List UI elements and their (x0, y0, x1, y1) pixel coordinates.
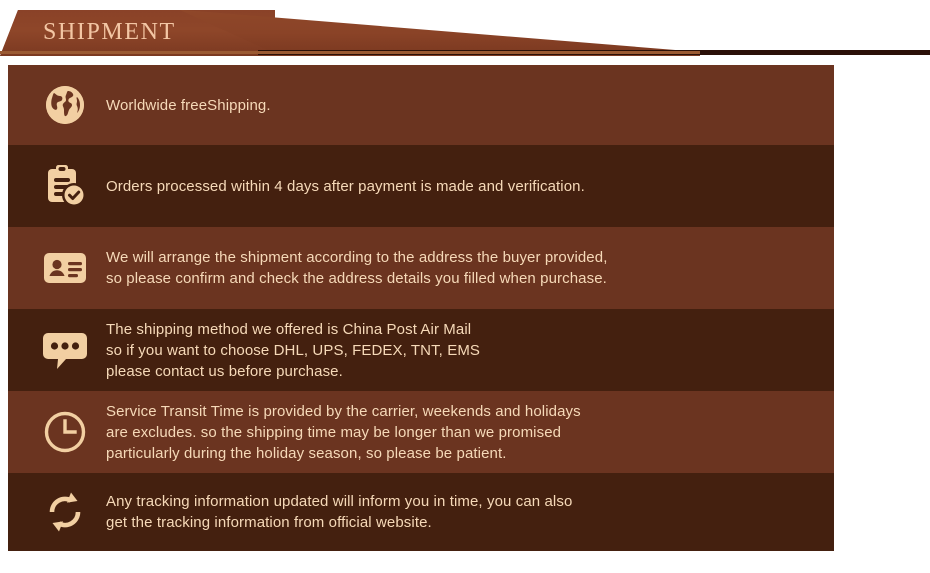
info-row-address-confirmation: We will arrange the shipment according t… (8, 227, 834, 309)
info-line: The shipping method we offered is China … (106, 319, 480, 340)
clipboard-check-icon (28, 163, 102, 209)
info-row-shipping-method: The shipping method we offered is China … (8, 309, 834, 391)
speech-bubble-icon (28, 329, 102, 371)
clock-icon (28, 410, 102, 454)
info-row-text: Any tracking information updated will in… (102, 491, 572, 533)
info-line: get the tracking information from offici… (106, 512, 572, 533)
shipment-banner: SHIPMENT Worldwide freeShipping. (0, 0, 930, 573)
shipment-header: SHIPMENT (0, 0, 930, 62)
refresh-arrows-icon (28, 490, 102, 534)
info-row-text: Worldwide freeShipping. (102, 95, 271, 116)
info-row-transit-time: Service Transit Time is provided by the … (8, 391, 834, 473)
info-line: are excludes. so the shipping time may b… (106, 422, 581, 443)
info-row-text: The shipping method we offered is China … (102, 319, 480, 382)
info-line: particularly during the holiday season, … (106, 443, 581, 464)
info-line: Any tracking information updated will in… (106, 491, 572, 512)
page-title: SHIPMENT (43, 19, 176, 46)
info-row-tracking-information: Any tracking information updated will in… (8, 473, 834, 551)
info-line: so please confirm and check the address … (106, 268, 607, 289)
header-rule-light (0, 51, 700, 54)
id-card-icon (28, 250, 102, 286)
info-row-text: We will arrange the shipment according t… (102, 247, 607, 289)
info-line: Worldwide freeShipping. (106, 95, 271, 116)
info-line: We will arrange the shipment according t… (106, 247, 607, 268)
shipment-info-panel: Worldwide freeShipping. Orders (8, 65, 834, 551)
info-row-text: Orders processed within 4 days after pay… (102, 176, 585, 197)
globe-icon (28, 84, 102, 126)
info-row-text: Service Transit Time is provided by the … (102, 401, 581, 464)
info-line: Service Transit Time is provided by the … (106, 401, 581, 422)
info-line: Orders processed within 4 days after pay… (106, 176, 585, 197)
info-line: so if you want to choose DHL, UPS, FEDEX… (106, 340, 480, 361)
info-line: please contact us before purchase. (106, 361, 480, 382)
info-row-order-processing: Orders processed within 4 days after pay… (8, 145, 834, 227)
info-row-worldwide-shipping: Worldwide freeShipping. (8, 65, 834, 145)
